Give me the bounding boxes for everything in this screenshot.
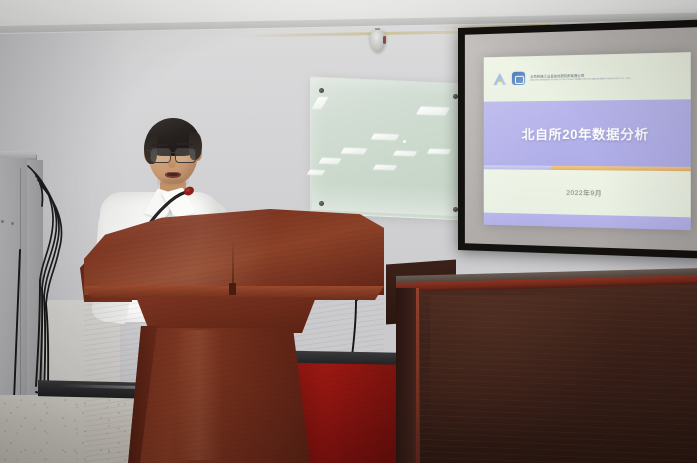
slide-date: 2022年9月: [566, 187, 602, 198]
whiteboard-mount-screw: [319, 201, 324, 206]
presenter-nose: [168, 155, 176, 168]
whiteboard-light-reflection: [427, 149, 451, 155]
presenter-chin-shadow: [157, 178, 189, 186]
logo-company-name-en: BEIJING RESEARCH INSTITUTE OF AUTOMATION…: [530, 78, 631, 82]
podium-notch: [229, 283, 236, 295]
glasses-lens-right-icon: [175, 148, 196, 163]
podium-column: [140, 328, 310, 463]
slide-title: 北自所20年数据分析: [522, 123, 649, 143]
equipment-cabinet-side: [27, 160, 43, 405]
whiteboard-light-reflection: [307, 170, 326, 176]
desk-left-edge: [416, 288, 419, 463]
presenter-mouth-inner: [167, 173, 179, 176]
equipment-cabinet-top: [0, 151, 36, 158]
equipment-cabinet-door: [0, 168, 21, 398]
presentation-photo-scene: 北京机械工业自动化研究所有限公司 BEIJING RESEARCH INSTIT…: [0, 0, 697, 463]
slide-header: 北京机械工业自动化研究所有限公司 BEIJING RESEARCH INSTIT…: [484, 52, 691, 102]
cabinet-hinge: [1, 220, 4, 223]
whiteboard-light-reflection: [341, 148, 368, 155]
whiteboard-mount-screw: [319, 88, 324, 93]
slide-lower-area: 2022年9月: [484, 170, 691, 217]
whiteboard-light-reflection: [393, 151, 417, 157]
cabinet-hinge: [11, 222, 14, 225]
glasses-bridge: [169, 152, 176, 153]
ceiling-sensor-indicator: [383, 36, 386, 44]
triangle-a-logo-icon: [493, 72, 507, 85]
slide-title-band: 北自所20年数据分析: [484, 99, 691, 167]
shield-building-logo-icon: [512, 72, 525, 85]
whiteboard-light-reflection: [371, 134, 400, 141]
whiteboard-light-reflection: [318, 158, 341, 165]
slide-logo-group: 北京机械工业自动化研究所有限公司 BEIJING RESEARCH INSTIT…: [493, 70, 631, 86]
whiteboard-spot-reflection: [403, 140, 406, 143]
whiteboard-light-reflection: [373, 165, 397, 171]
desk-sheen: [430, 295, 630, 455]
presentation-slide: 北京机械工业自动化研究所有限公司 BEIJING RESEARCH INSTIT…: [484, 52, 691, 230]
whiteboard-light-reflection: [416, 106, 450, 115]
slide-logo-text: 北京机械工业自动化研究所有限公司 BEIJING RESEARCH INSTIT…: [530, 73, 631, 82]
podium-column-highlight: [176, 330, 222, 460]
projection-screen: 北京机械工业自动化研究所有限公司 BEIJING RESEARCH INSTIT…: [458, 19, 697, 258]
